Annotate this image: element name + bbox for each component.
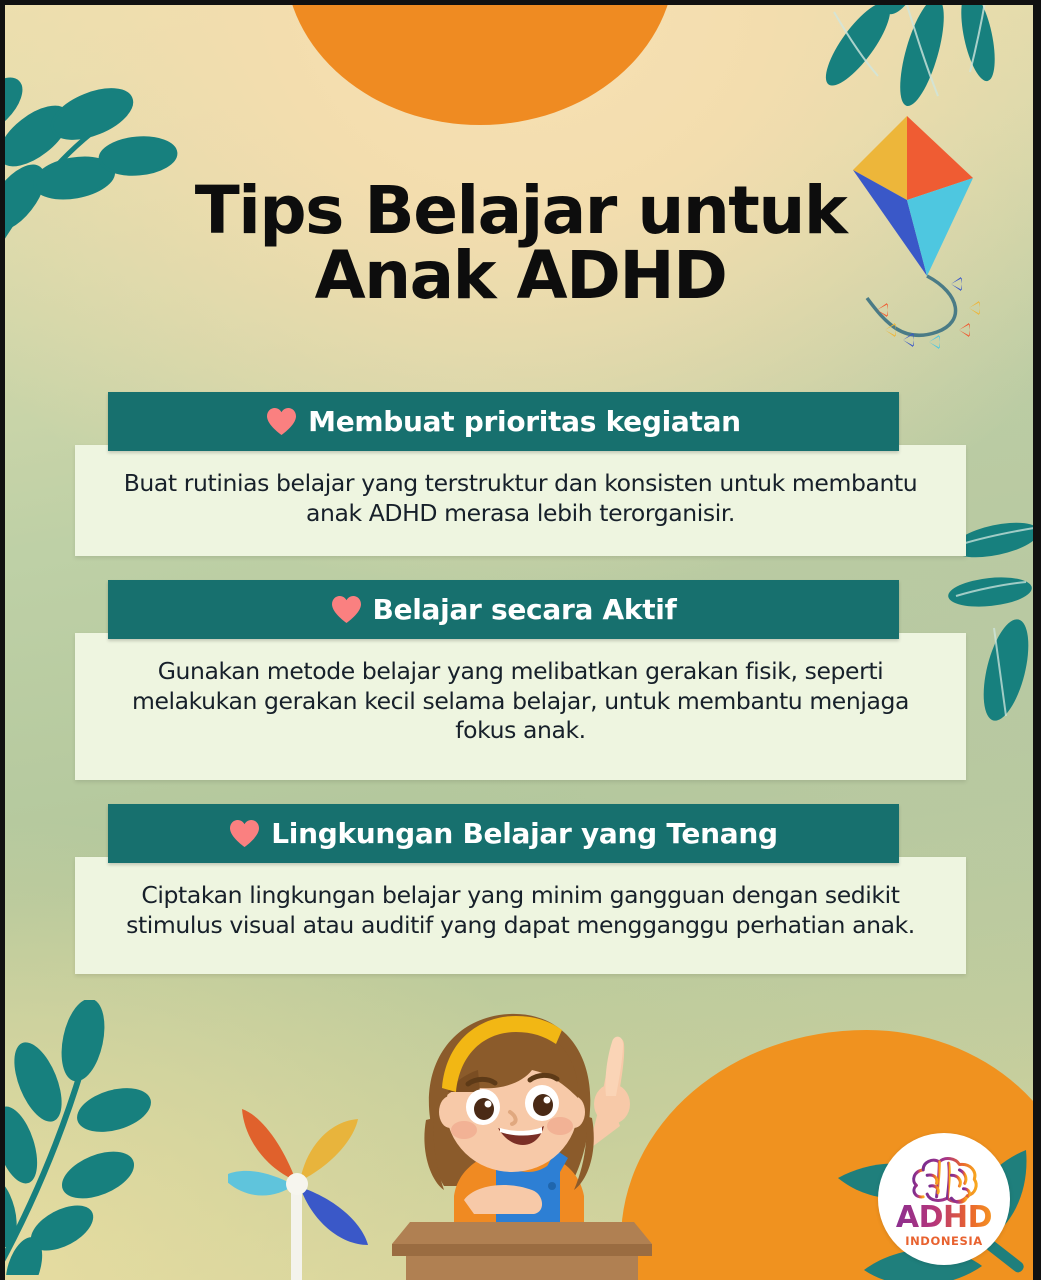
tip-card: Membuat prioritas kegiatan Buat rutinias…	[0, 392, 1041, 556]
tip-card-body: Gunakan metode belajar yang melibatkan g…	[75, 633, 966, 780]
tip-card-body: Ciptakan lingkungan belajar yang minim g…	[75, 857, 966, 974]
tip-heading: Membuat prioritas kegiatan	[308, 405, 741, 438]
tip-body-text: Buat rutinias belajar yang terstruktur d…	[105, 469, 936, 528]
frame-edge-right	[1033, 0, 1041, 1280]
logo-sub-text: INDONESIA	[905, 1234, 983, 1248]
frame-edge-top	[0, 0, 1041, 5]
tip-card-header: Lingkungan Belajar yang Tenang	[108, 804, 899, 863]
orange-circle-shape	[285, 0, 675, 125]
tip-card: Belajar secara Aktif Gunakan metode bela…	[0, 580, 1041, 780]
tip-body-text: Gunakan metode belajar yang melibatkan g…	[105, 657, 936, 746]
tips-list: Membuat prioritas kegiatan Buat rutinias…	[0, 392, 1041, 998]
tip-card-header: Belajar secara Aktif	[108, 580, 899, 639]
title-line-1: Tips Belajar untuk	[0, 178, 1041, 243]
brain-icon	[907, 1155, 981, 1205]
heart-icon	[266, 407, 297, 436]
tip-card-body: Buat rutinias belajar yang terstruktur d…	[75, 445, 966, 556]
tip-card-header: Membuat prioritas kegiatan	[108, 392, 899, 451]
logo-main-text: ADHD	[896, 1203, 992, 1233]
pinwheel-icon	[228, 1095, 418, 1280]
heart-icon	[331, 595, 362, 624]
tip-card: Lingkungan Belajar yang Tenang Ciptakan …	[0, 804, 1041, 974]
title-line-2: Anak ADHD	[0, 243, 1041, 308]
leaf-branch-icon	[0, 1000, 220, 1275]
school-desk-illustration	[392, 1218, 652, 1280]
girl-raising-hand-illustration	[392, 1000, 662, 1240]
tip-heading: Lingkungan Belajar yang Tenang	[271, 817, 777, 850]
tip-body-text: Ciptakan lingkungan belajar yang minim g…	[105, 881, 936, 940]
leaves-icon	[810, 0, 1040, 122]
infographic-poster: Tips Belajar untuk Anak ADHD Membuat pri…	[0, 0, 1041, 1280]
logo-badge: ADHD INDONESIA	[878, 1133, 1010, 1265]
tip-heading: Belajar secara Aktif	[373, 593, 677, 626]
frame-edge-left	[0, 0, 5, 1280]
page-title: Tips Belajar untuk Anak ADHD	[0, 178, 1041, 309]
heart-icon	[229, 819, 260, 848]
